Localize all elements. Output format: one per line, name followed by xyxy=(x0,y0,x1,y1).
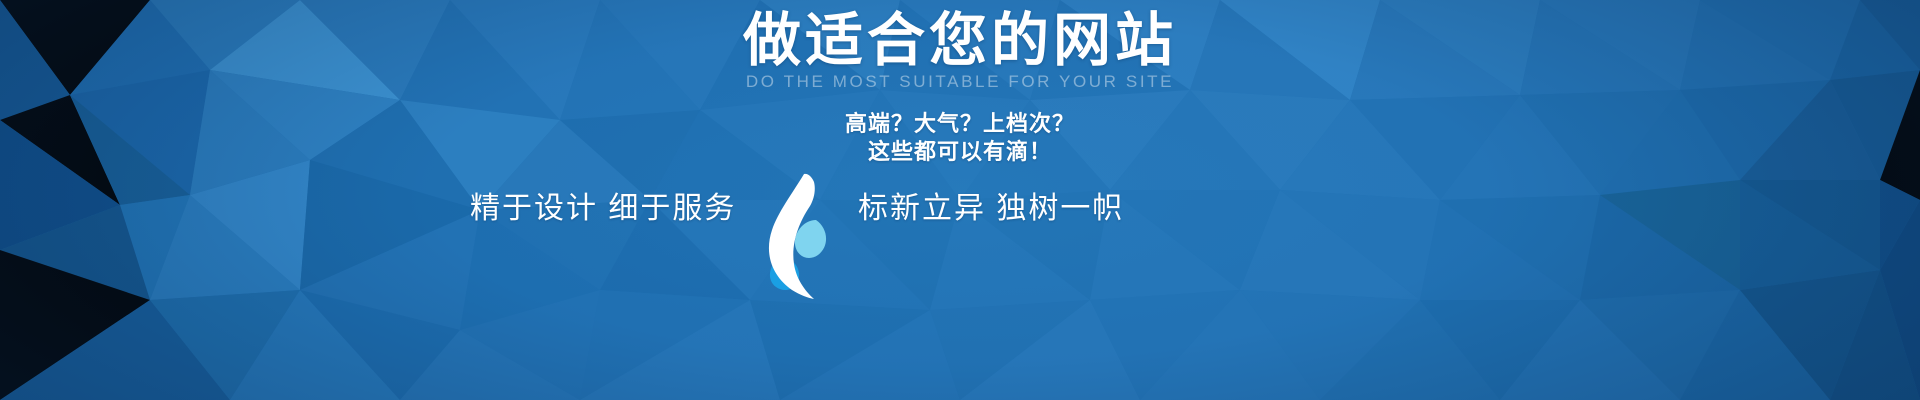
slogan-right: 标新立异 独树一帜 xyxy=(858,183,1124,227)
banner-subtitle: DO THE MOST SUITABLE FOR YOUR SITE xyxy=(0,72,1920,92)
banner-title: 做适合您的网站 xyxy=(0,8,1920,75)
banner-tagline-2: 这些都可以有滴！ xyxy=(0,134,1920,166)
swoosh-leaf-logo-icon xyxy=(742,168,852,300)
hero-banner: 做适合您的网站 DO THE MOST SUITABLE FOR YOUR SI… xyxy=(0,0,1920,400)
banner-content: 做适合您的网站 DO THE MOST SUITABLE FOR YOUR SI… xyxy=(0,0,1920,400)
brand-logo xyxy=(742,168,852,300)
logo-leaf-upper xyxy=(795,220,826,258)
slogan-left: 精于设计 细于服务 xyxy=(470,183,736,227)
